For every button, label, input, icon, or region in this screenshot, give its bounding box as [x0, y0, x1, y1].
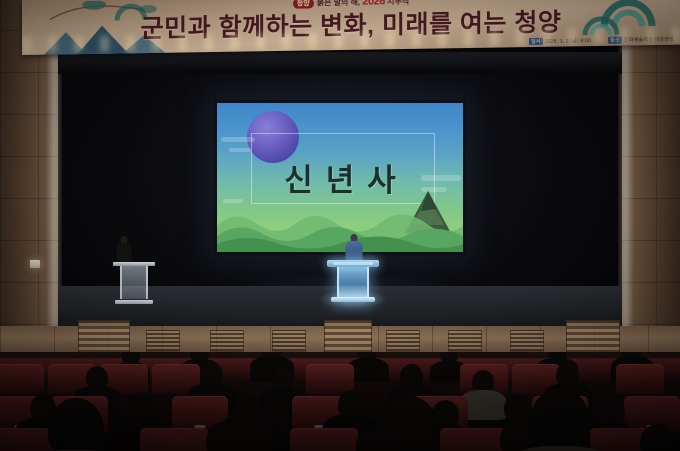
main-podium-body	[337, 267, 369, 298]
audience-head-front	[380, 396, 438, 451]
seat	[140, 428, 208, 451]
slide-rolling-hills	[217, 190, 463, 252]
seat	[440, 428, 508, 451]
apron-vent-panel-6	[510, 330, 544, 352]
wall-sconce-light	[30, 260, 40, 268]
seat	[616, 364, 664, 394]
podium-center-illuminated	[327, 250, 379, 302]
auditorium-scene: 청양붉은 말의 해, 2026 시무식 군민과 함께하는 변화, 미래를 여는 …	[0, 0, 680, 451]
audience-head-front	[48, 398, 104, 451]
seat	[290, 428, 358, 451]
apron-vent-panel-1	[146, 330, 180, 352]
side-podium-body	[120, 266, 148, 299]
audience-head-front	[530, 388, 590, 451]
apron-vent-panel-5	[448, 330, 482, 352]
apron-vent-panel-3	[272, 330, 306, 352]
podium-left-mc	[113, 258, 155, 304]
main-podium-top-strip	[333, 262, 373, 265]
audience-area	[0, 352, 680, 451]
projection-screen-frame: 신년사	[214, 100, 466, 255]
apron-vent-panel-4	[386, 330, 420, 352]
projection-screen: 신년사	[217, 103, 463, 252]
apron-vent-panel-2	[210, 330, 244, 352]
proscenium-header-beam	[58, 52, 622, 74]
seat	[0, 364, 44, 394]
audience-head	[500, 420, 534, 451]
side-podium-base	[115, 300, 153, 304]
main-podium-base	[331, 297, 375, 302]
slide-cloud-2	[229, 148, 251, 152]
slide-cloud-1	[221, 137, 255, 142]
